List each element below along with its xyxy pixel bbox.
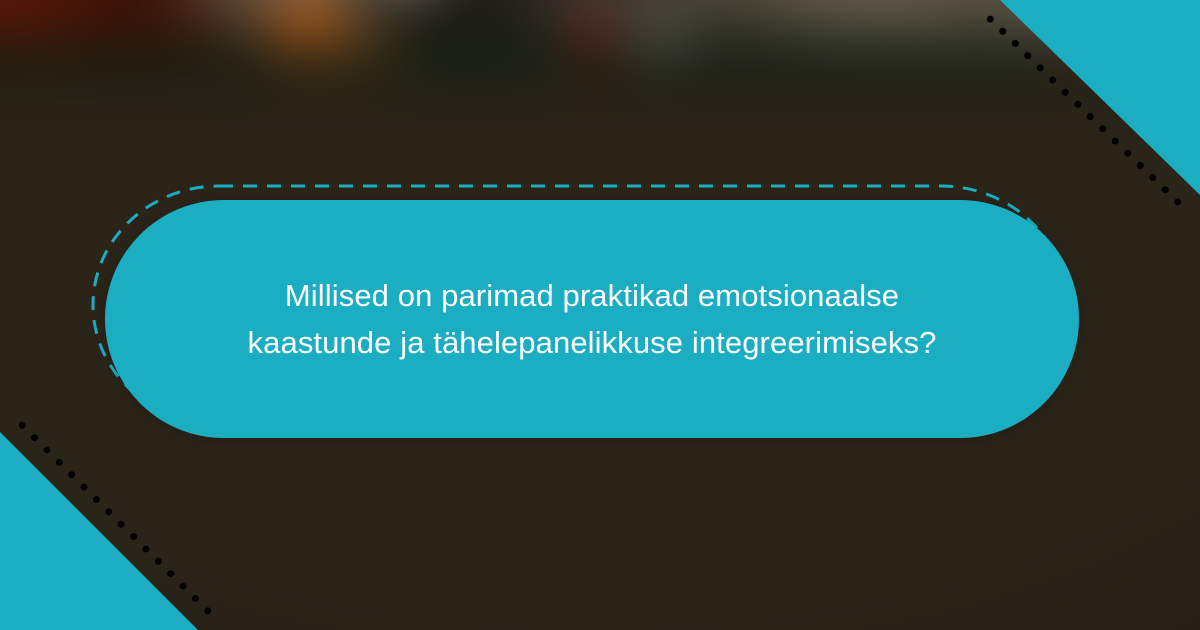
decor-dot — [19, 422, 26, 429]
decor-dot — [192, 595, 199, 602]
decor-dot — [1062, 89, 1069, 96]
decor-dot — [1137, 162, 1144, 169]
decor-dot — [1087, 113, 1094, 120]
headline-line-2: kaastunde ja tähelepanelikkuse integreer… — [248, 325, 937, 360]
headline-line-1: Millised on parimad praktikad emotsionaa… — [285, 278, 899, 313]
decor-dot — [130, 533, 137, 540]
decor-dot — [1012, 40, 1019, 47]
decor-dot — [155, 558, 162, 565]
decor-dot — [167, 570, 174, 577]
decor-dot — [1162, 186, 1169, 193]
decor-dot — [31, 434, 38, 441]
decor-dot — [1112, 137, 1119, 144]
decor-dot — [43, 446, 50, 453]
background-person-figure — [0, 0, 1200, 80]
decor-dot — [999, 28, 1006, 35]
decor-dot — [1024, 52, 1031, 59]
headline-text: Millised on parimad praktikad emotsionaa… — [208, 272, 977, 366]
decor-dot — [1124, 150, 1131, 157]
headline-card: Millised on parimad praktikad emotsionaa… — [105, 200, 1079, 438]
decor-dot — [105, 508, 112, 515]
decor-dot — [204, 607, 211, 614]
background-seated-figures — [0, 0, 1200, 80]
decor-dot — [56, 459, 63, 466]
background-base-gradient — [0, 0, 1200, 80]
decor-dot — [81, 484, 88, 491]
social-card-canvas: Millised on parimad praktikad emotsionaa… — [0, 0, 1200, 630]
bottom-left-triangle — [0, 432, 198, 630]
decor-dot — [987, 16, 994, 23]
decor-dot — [1174, 198, 1181, 205]
background-floor — [0, 0, 1200, 80]
decor-dot — [1037, 64, 1044, 71]
decor-dot — [1149, 174, 1156, 181]
decor-dot — [93, 496, 100, 503]
decor-dot — [1099, 125, 1106, 132]
decor-dot — [118, 521, 125, 528]
decor-dot — [180, 583, 187, 590]
decor-dot — [1074, 101, 1081, 108]
top-right-triangle — [1000, 0, 1200, 195]
background-room-walls — [0, 0, 1200, 80]
decor-dot — [1049, 77, 1056, 84]
top-right-dot-row — [987, 16, 1182, 206]
decor-dot — [68, 471, 75, 478]
decor-dot — [142, 545, 149, 552]
bottom-left-dot-row — [19, 422, 212, 615]
